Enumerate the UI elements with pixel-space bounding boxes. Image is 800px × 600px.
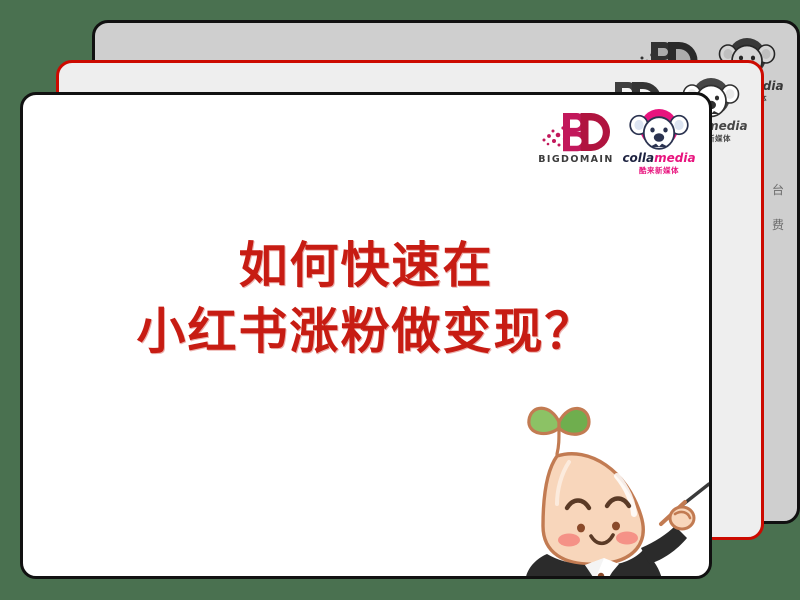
slide-front-content: BIGDOMAIN [23,95,709,576]
logo-lockup-front: BIGDOMAIN [537,109,695,176]
slide-deck-stage: BIGDOMAIN [0,0,800,600]
colla-media-word2: media [706,119,747,133]
colla-media-wordmark: collamedia [622,152,695,164]
colla-media-subtitle: 酷来新媒体 [639,165,679,176]
egg-presenter-mascot [485,384,712,579]
edge-text-char-1: 台 [769,173,787,208]
headline-line-1: 如何快速在 [238,237,493,294]
bigdomain-logo[interactable]: BIGDOMAIN [537,109,615,165]
slide-card-front[interactable]: BIGDOMAIN [20,92,712,579]
colla-media-logo[interactable]: collamedia 酷来新媒体 [623,109,695,176]
colla-media-word2: media [654,151,695,165]
back-slide-edge-text: 台 费 [769,173,787,243]
bigdomain-wordmark: BIGDOMAIN [538,154,613,165]
bigdomain-monogram-icon [539,109,613,153]
colla-media-word1: colla [622,151,654,165]
headline-line-2: 小红书涨粉做变现？ [23,299,709,365]
koala-icon [629,109,689,153]
edge-text-char-2: 费 [769,208,787,243]
slide-headline: 如何快速在 小红书涨粉做变现？ [23,233,709,364]
